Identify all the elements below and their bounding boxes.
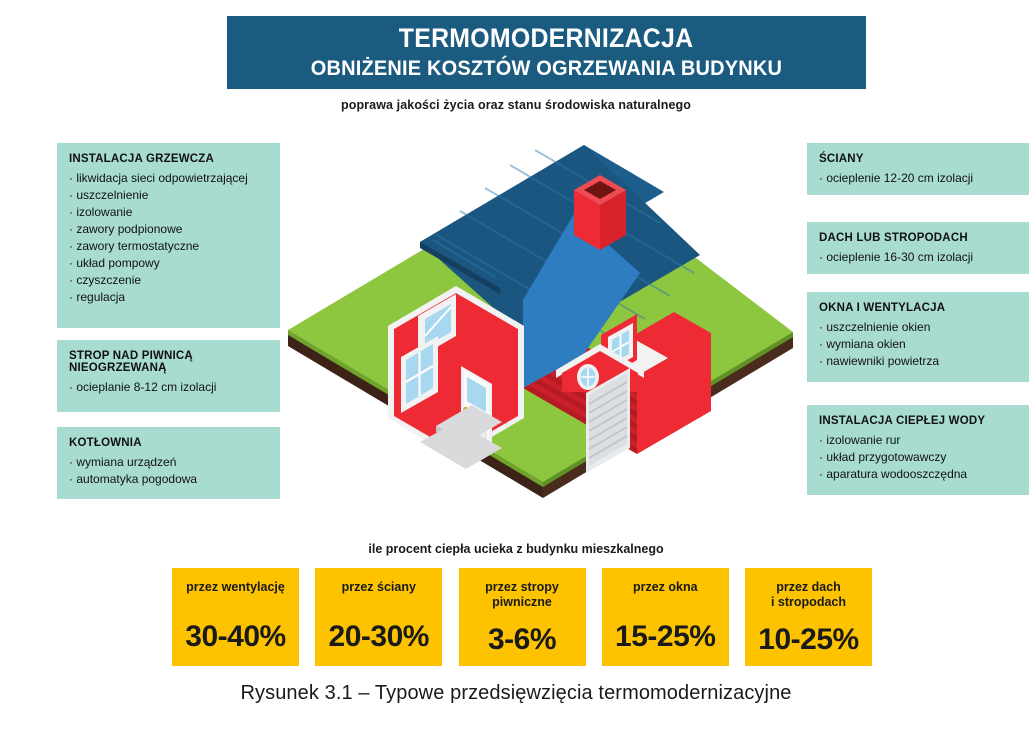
- stat-label-line1: przez stropy: [485, 580, 559, 594]
- infobox-list: likwidacja sieci odpowietrzającej uszcze…: [69, 170, 268, 306]
- stat-card-sciany[interactable]: przez ściany 20-30%: [315, 568, 442, 666]
- list-item: automatyka pogodowa: [69, 471, 268, 488]
- page-subtitle: OBNIŻENIE KOSZTÓW OGRZEWANIA BUDYNKU: [311, 56, 782, 81]
- list-item: czyszczenie: [69, 272, 268, 289]
- stat-label: przez dach i stropodach: [771, 580, 846, 610]
- list-item: zawory podpionowe: [69, 221, 268, 238]
- stat-value: 20-30%: [329, 620, 429, 654]
- stat-label: przez wentylację: [186, 580, 285, 595]
- header-banner: TERMOMODERNIZACJA OBNIŻENIE KOSZTÓW OGRZ…: [227, 16, 866, 89]
- heat-loss-stats: przez wentylację 30-40% przez ściany 20-…: [172, 568, 872, 668]
- infobox-title: ŚCIANY: [819, 153, 1017, 165]
- stat-card-stropy-piwniczne[interactable]: przez stropy piwniczne 3-6%: [459, 568, 586, 666]
- stat-card-okna[interactable]: przez okna 15-25%: [602, 568, 729, 666]
- list-item: regulacja: [69, 289, 268, 306]
- infobox-instalacja-grzewcza: INSTALACJA GRZEWCZA likwidacja sieci odp…: [57, 143, 280, 328]
- list-item: zawory termostatyczne: [69, 238, 268, 255]
- infobox-title: KOTŁOWNIA: [69, 437, 268, 449]
- stat-value: 3-6%: [488, 623, 556, 657]
- infobox-strop-nad-piwnica: STROP NAD PIWNICĄ NIEOGRZEWANĄ ocieplani…: [57, 340, 280, 412]
- stat-value: 15-25%: [615, 620, 715, 654]
- list-item: ocieplanie 8-12 cm izolacji: [69, 379, 268, 396]
- stat-label: przez okna: [633, 580, 698, 595]
- figure-caption: Rysunek 3.1 – Typowe przedsięwzięcia ter…: [0, 682, 1032, 705]
- infographic-root: TERMOMODERNIZACJA OBNIŻENIE KOSZTÓW OGRZ…: [0, 0, 1032, 733]
- tagline: poprawa jakości życia oraz stanu środowi…: [0, 98, 1032, 112]
- list-item: aparatura wodooszczędna: [819, 466, 1017, 483]
- infobox-sciany: ŚCIANY ocieplenie 12-20 cm izolacji: [807, 143, 1029, 195]
- list-item: uszczelnienie okien: [819, 319, 1017, 336]
- chimney: [574, 175, 626, 250]
- infobox-title: INSTALACJA GRZEWCZA: [69, 153, 268, 165]
- list-item: ocieplenie 12-20 cm izolacji: [819, 170, 1017, 187]
- stat-label: przez stropy piwniczne: [485, 580, 559, 610]
- infobox-list: ocieplanie 8-12 cm izolacji: [69, 379, 268, 396]
- infobox-dach-lub-stropodach: DACH LUB STROPODACH ocieplenie 16-30 cm …: [807, 222, 1029, 274]
- infobox-title: OKNA I WENTYLACJA: [819, 302, 1017, 314]
- stat-value: 10-25%: [758, 623, 858, 657]
- chart-title: ile procent ciepła ucieka z budynku mies…: [0, 542, 1032, 556]
- list-item: izolowanie: [69, 204, 268, 221]
- stat-label-line2: piwniczne: [492, 595, 552, 609]
- stat-value: 30-40%: [185, 620, 285, 654]
- page-title: TERMOMODERNIZACJA: [399, 24, 694, 52]
- infobox-title: DACH LUB STROPODACH: [819, 232, 1017, 244]
- list-item: likwidacja sieci odpowietrzającej: [69, 170, 268, 187]
- infobox-kotlownia: KOTŁOWNIA wymiana urządzeń automatyka po…: [57, 427, 280, 499]
- list-item: układ pompowy: [69, 255, 268, 272]
- infobox-list: uszczelnienie okien wymiana okien nawiew…: [819, 319, 1017, 370]
- list-item: wymiana urządzeń: [69, 454, 268, 471]
- infobox-instalacja-cieplej-wody: INSTALACJA CIEPŁEJ WODY izolowanie rur u…: [807, 405, 1029, 495]
- infobox-list: wymiana urządzeń automatyka pogodowa: [69, 454, 268, 488]
- list-item: uszczelnienie: [69, 187, 268, 204]
- isometric-house-illustration: [270, 130, 810, 520]
- list-item: ocieplenie 16-30 cm izolacji: [819, 249, 1017, 266]
- round-window: [577, 364, 599, 390]
- infobox-okna-i-wentylacja: OKNA I WENTYLACJA uszczelnienie okien wy…: [807, 292, 1029, 382]
- stat-label: przez ściany: [342, 580, 416, 595]
- list-item: nawiewniki powietrza: [819, 353, 1017, 370]
- list-item: układ przygotowawczy: [819, 449, 1017, 466]
- list-item: wymiana okien: [819, 336, 1017, 353]
- stat-card-wentylacja[interactable]: przez wentylację 30-40%: [172, 568, 299, 666]
- infobox-title: INSTALACJA CIEPŁEJ WODY: [819, 415, 1017, 427]
- infobox-list: ocieplenie 16-30 cm izolacji: [819, 249, 1017, 266]
- infobox-list: izolowanie rur układ przygotowawczy apar…: [819, 432, 1017, 483]
- list-item: izolowanie rur: [819, 432, 1017, 449]
- stat-label-line1: przez dach: [776, 580, 841, 594]
- stat-label-line2: i stropodach: [771, 595, 846, 609]
- infobox-title: STROP NAD PIWNICĄ NIEOGRZEWANĄ: [69, 350, 268, 374]
- infobox-list: ocieplenie 12-20 cm izolacji: [819, 170, 1017, 187]
- stat-card-dach-i-stropodach[interactable]: przez dach i stropodach 10-25%: [745, 568, 872, 666]
